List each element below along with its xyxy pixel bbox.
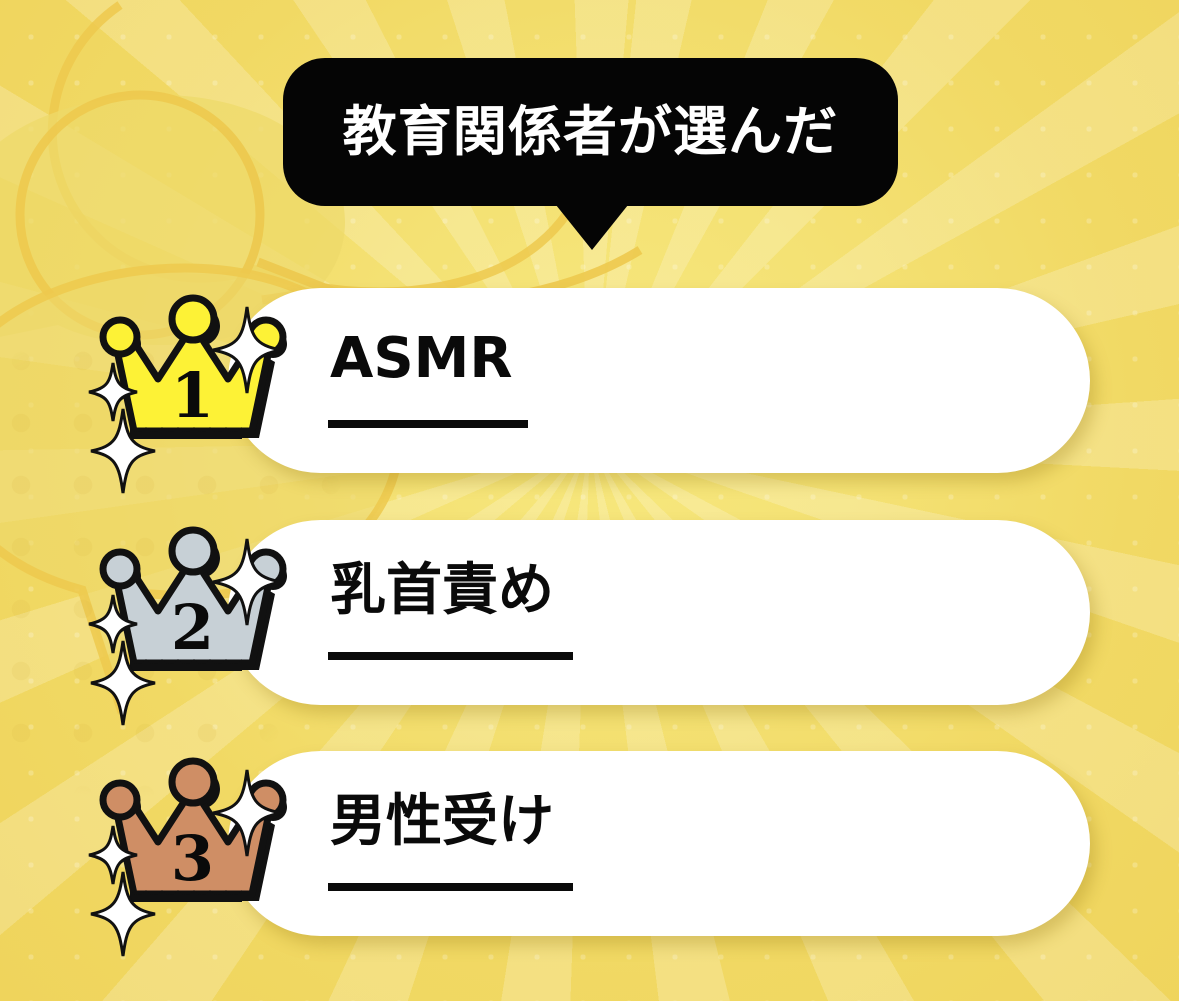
rank-label-3: 男性受け xyxy=(330,793,554,852)
crown-icon-2: 2 xyxy=(95,529,285,699)
crown-icon-1: 1 xyxy=(95,297,285,467)
rank-label-1: ASMR xyxy=(330,330,513,389)
ranking-row-3[interactable]: 男性受け 3 xyxy=(0,751,1179,941)
rank-underline-2 xyxy=(328,652,573,660)
speech-bubble-tail-icon xyxy=(552,200,632,250)
rank-card-2[interactable]: 乳首責め xyxy=(228,520,1090,705)
rank-underline-1 xyxy=(328,420,528,428)
rank-underline-3 xyxy=(328,883,573,891)
rank-card-3[interactable]: 男性受け xyxy=(228,751,1090,936)
crown-icon-3: 3 xyxy=(95,760,285,930)
page-title: 教育関係者が選んだ xyxy=(343,105,839,159)
title-speech-bubble: 教育関係者が選んだ xyxy=(283,58,898,206)
rank-card-1[interactable]: ASMR xyxy=(228,288,1090,473)
ranking-row-1[interactable]: ASMR 1 xyxy=(0,288,1179,478)
poster-canvas: 教育関係者が選んだ ASMR xyxy=(0,0,1179,1001)
ranking-row-2[interactable]: 乳首責め 2 xyxy=(0,520,1179,710)
rank-label-2: 乳首責め xyxy=(330,562,554,621)
